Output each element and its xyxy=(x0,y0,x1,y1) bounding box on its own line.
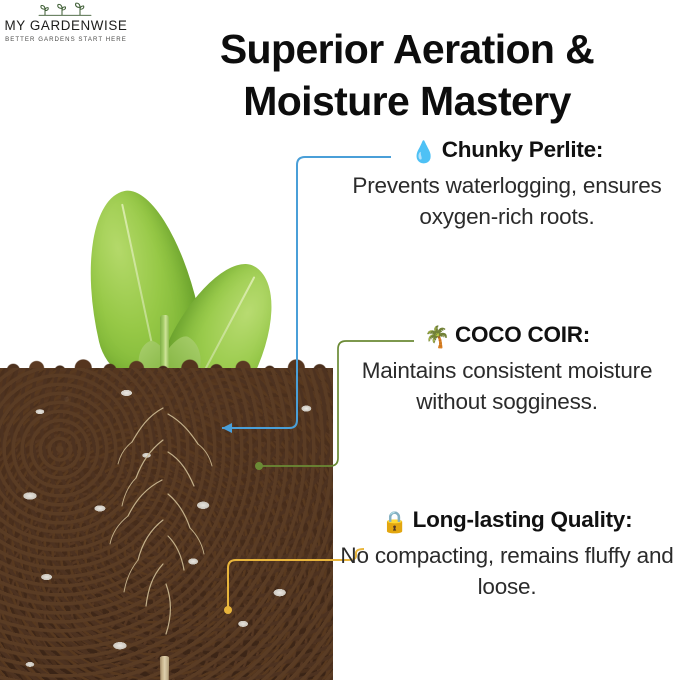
feature-title: 🔒Long-lasting Quality: xyxy=(335,505,679,538)
feature-body: Maintains consistent moisture without so… xyxy=(335,355,679,417)
feature-body: Prevents waterlogging, ensures oxygen-ri… xyxy=(335,170,679,232)
feature-coco-coir: 🌴COCO COIR: Maintains consistent moistur… xyxy=(335,320,679,417)
feature-title: 🌴COCO COIR: xyxy=(335,320,679,353)
feature-body: No compacting, remains fluffy and loose. xyxy=(335,540,679,602)
feature-chunky-perlite: 💧Chunky Perlite: Prevents waterlogging, … xyxy=(335,135,679,232)
water-droplet-icon: 💧 xyxy=(411,141,437,164)
feature-title: 💧Chunky Perlite: xyxy=(335,135,679,168)
padlock-icon: 🔒 xyxy=(382,511,408,534)
feature-title-text: Long-lasting Quality: xyxy=(413,507,633,532)
palm-tree-icon: 🌴 xyxy=(424,326,450,349)
feature-title-text: Chunky Perlite: xyxy=(442,137,603,162)
infographic-page: MY GARDENWISE BETTER GARDENS START HERE … xyxy=(0,0,679,680)
feature-title-text: COCO COIR: xyxy=(455,322,590,347)
feature-long-lasting-quality: 🔒Long-lasting Quality: No compacting, re… xyxy=(335,505,679,602)
